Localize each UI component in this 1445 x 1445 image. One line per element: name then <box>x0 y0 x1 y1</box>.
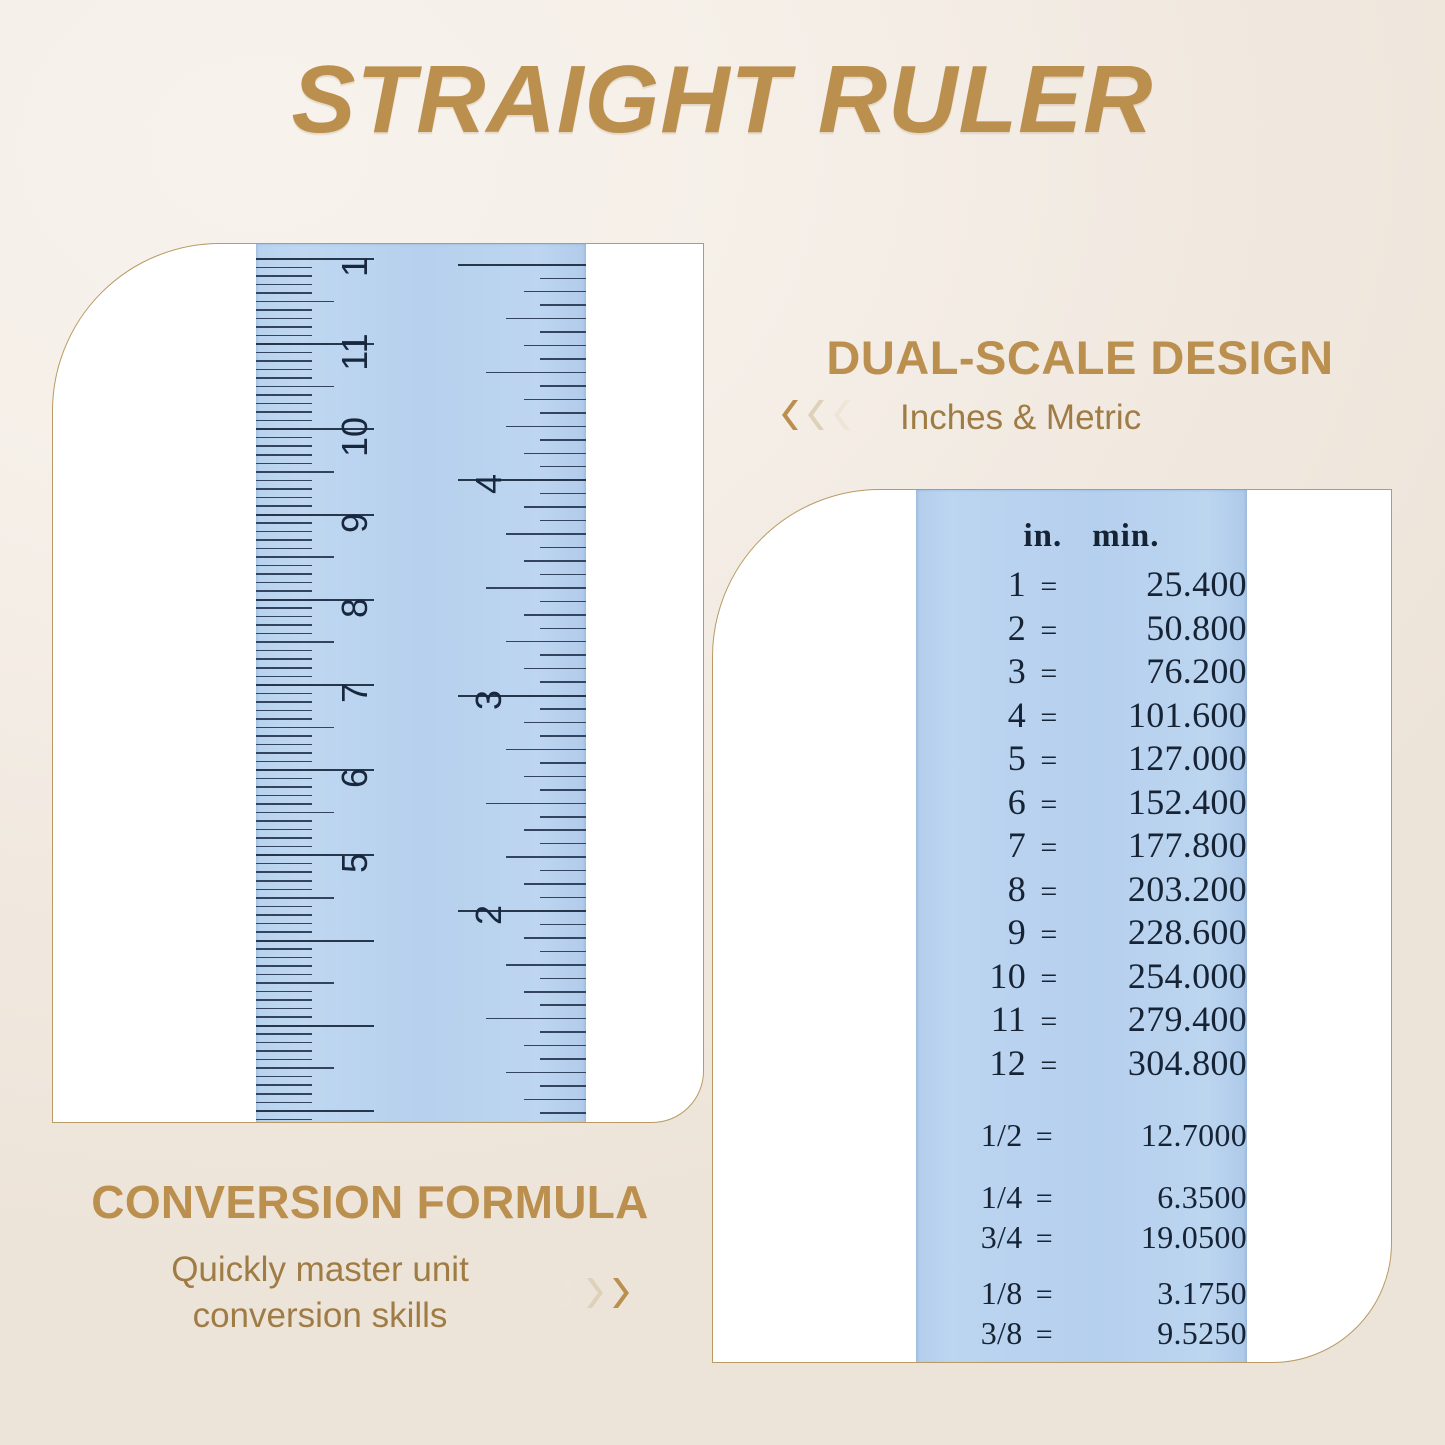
ruler-metric-label: 8 <box>334 573 376 643</box>
ruler-metric-label: 6 <box>334 743 376 813</box>
conversion-row: 5/8=15.8750 <box>916 1354 1247 1363</box>
conversion-row: 6=152.400 <box>916 782 1247 826</box>
equals-sign: = <box>1023 1356 1067 1363</box>
conversion-inches: 2 <box>916 608 1026 650</box>
equals-sign: = <box>1023 1316 1067 1354</box>
conversion-millimeters: 15.8750 <box>1066 1354 1247 1363</box>
equals-sign: = <box>1026 958 1072 1000</box>
ruler-metric-label: 1 <box>334 243 376 302</box>
conversion-inches: 9 <box>916 912 1026 954</box>
header-inches: in. <box>916 518 1068 555</box>
equals-sign: = <box>1026 827 1072 869</box>
ruler-metric-label: 7 <box>334 658 376 728</box>
conversion-millimeters: 76.200 <box>1072 651 1247 693</box>
conversion-inches: 3/8 <box>916 1314 1023 1352</box>
chevron-left-icon <box>832 397 854 433</box>
equals-sign: = <box>1026 566 1072 608</box>
conversion-inches: 6 <box>916 782 1026 824</box>
equals-sign: = <box>1026 1045 1072 1087</box>
conversion-inches: 11 <box>916 999 1026 1041</box>
conversion-millimeters: 9.5250 <box>1066 1314 1247 1352</box>
page-title: STRAIGHT RULER <box>0 52 1445 148</box>
conversion-inches: 3 <box>916 651 1026 693</box>
conversion-inches: 7 <box>916 825 1026 867</box>
conversion-millimeters: 19.0500 <box>1066 1218 1247 1256</box>
equals-sign: = <box>1026 610 1072 652</box>
equals-sign: = <box>1026 1001 1072 1043</box>
ruler-metric-label: 11 <box>334 317 376 387</box>
conversion-millimeters: 304.800 <box>1072 1043 1247 1085</box>
conversion-millimeters: 101.600 <box>1072 695 1247 737</box>
dual-scale-title: DUAL-SCALE DESIGN <box>760 330 1400 385</box>
equals-sign: = <box>1026 653 1072 695</box>
conversion-table-header: in. min. <box>916 518 1247 555</box>
conversion-row: 12=304.800 <box>916 1043 1247 1087</box>
chevron-left-icon-group <box>780 397 858 438</box>
conversion-row: 3=76.200 <box>916 651 1247 695</box>
conversion-row: 1/2=12.7000 <box>916 1116 1247 1156</box>
chevron-right-icon-group <box>557 1275 635 1311</box>
chevron-left-icon <box>806 397 828 433</box>
ruler-metric-label: 10 <box>334 402 376 472</box>
conversion-row: 1=25.400 <box>916 564 1247 608</box>
conversion-row: 5=127.000 <box>916 738 1247 782</box>
conversion-millimeters: 203.200 <box>1072 869 1247 911</box>
conversion-row: 4=101.600 <box>916 695 1247 739</box>
dual-scale-subtitle-row: Inches & Metric <box>760 397 1400 438</box>
conversion-millimeters: 25.400 <box>1072 564 1247 606</box>
conversion-inches: 1/8 <box>916 1274 1023 1312</box>
conversion-formula-subtitle-row: Quickly master unit conversion skills <box>40 1247 700 1339</box>
conversion-inches: 3/4 <box>916 1218 1023 1256</box>
ruler-panel: 1111098765432 <box>52 243 704 1123</box>
conversion-millimeters: 3.1750 <box>1066 1274 1247 1312</box>
conversion-row: 3/8=9.5250 <box>916 1314 1247 1354</box>
conversion-millimeters: 279.400 <box>1072 999 1247 1041</box>
ruler-inch-label: 2 <box>468 880 510 950</box>
equals-sign: = <box>1023 1220 1067 1258</box>
conversion-millimeters: 50.800 <box>1072 608 1247 650</box>
conversion-formula-section: CONVERSION FORMULA Quickly master unit c… <box>40 1175 700 1339</box>
chevron-left-icon <box>780 397 802 433</box>
conversion-table: in. min. 1=25.4002=50.8003=76.2004=101.6… <box>916 490 1247 1363</box>
conversion-panel: in. min. 1=25.4002=50.8003=76.2004=101.6… <box>712 489 1392 1363</box>
conversion-row: 10=254.000 <box>916 956 1247 1000</box>
ruler-inch-label: 4 <box>468 449 510 519</box>
equals-sign: = <box>1026 784 1072 826</box>
ruler-metric-label: 5 <box>334 828 376 898</box>
conversion-subtitle-line-2: conversion skills <box>105 1293 535 1339</box>
conversion-inches: 1 <box>916 564 1026 606</box>
equals-sign: = <box>1026 740 1072 782</box>
ruler-strip-right: in. min. 1=25.4002=50.8003=76.2004=101.6… <box>916 490 1247 1363</box>
header-millimeters: min. <box>1068 518 1247 555</box>
conversion-inches: 1/2 <box>916 1116 1023 1154</box>
conversion-subtitle-line-1: Quickly master unit <box>105 1247 535 1293</box>
conversion-row: 2=50.800 <box>916 608 1247 652</box>
conversion-millimeters: 12.7000 <box>1066 1116 1247 1154</box>
ruler-inch-label: 3 <box>468 665 510 735</box>
chevron-right-icon <box>557 1275 579 1311</box>
conversion-row: 8=203.200 <box>916 869 1247 913</box>
conversion-inches: 4 <box>916 695 1026 737</box>
ruler-tick-marks <box>256 244 586 1123</box>
conversion-formula-title: CONVERSION FORMULA <box>40 1175 700 1229</box>
conversion-row: 1/8=3.1750 <box>916 1274 1247 1314</box>
conversion-inches: 10 <box>916 956 1026 998</box>
chevron-right-icon <box>583 1275 605 1311</box>
conversion-millimeters: 254.000 <box>1072 956 1247 998</box>
chevron-right-icon <box>609 1275 631 1311</box>
conversion-inches: 8 <box>916 869 1026 911</box>
conversion-millimeters: 177.800 <box>1072 825 1247 867</box>
ruler-strip-left: 1111098765432 <box>256 244 586 1123</box>
equals-sign: = <box>1023 1276 1067 1314</box>
conversion-millimeters: 127.000 <box>1072 738 1247 780</box>
equals-sign: = <box>1026 914 1072 956</box>
conversion-inches: 12 <box>916 1043 1026 1085</box>
equals-sign: = <box>1023 1180 1067 1218</box>
conversion-row: 1/4=6.3500 <box>916 1178 1247 1218</box>
equals-sign: = <box>1023 1118 1067 1156</box>
conversion-row: 3/4=19.0500 <box>916 1218 1247 1258</box>
equals-sign: = <box>1026 871 1072 913</box>
conversion-row: 7=177.800 <box>916 825 1247 869</box>
conversion-millimeters: 152.400 <box>1072 782 1247 824</box>
conversion-formula-subtitle: Quickly master unit conversion skills <box>105 1247 535 1339</box>
equals-sign: = <box>1026 697 1072 739</box>
conversion-inches: 5/8 <box>916 1354 1023 1363</box>
conversion-row: 11=279.400 <box>916 999 1247 1043</box>
conversion-millimeters: 6.3500 <box>1066 1178 1247 1216</box>
conversion-inches: 1/4 <box>916 1178 1023 1216</box>
conversion-table-body: 1=25.4002=50.8003=76.2004=101.6005=127.0… <box>916 564 1247 1363</box>
dual-scale-subtitle: Inches & Metric <box>900 398 1141 438</box>
ruler-metric-label: 9 <box>334 488 376 558</box>
conversion-inches: 5 <box>916 738 1026 780</box>
dual-scale-section: DUAL-SCALE DESIGN Inches & Metric <box>760 330 1400 438</box>
conversion-row: 9=228.600 <box>916 912 1247 956</box>
conversion-millimeters: 228.600 <box>1072 912 1247 954</box>
